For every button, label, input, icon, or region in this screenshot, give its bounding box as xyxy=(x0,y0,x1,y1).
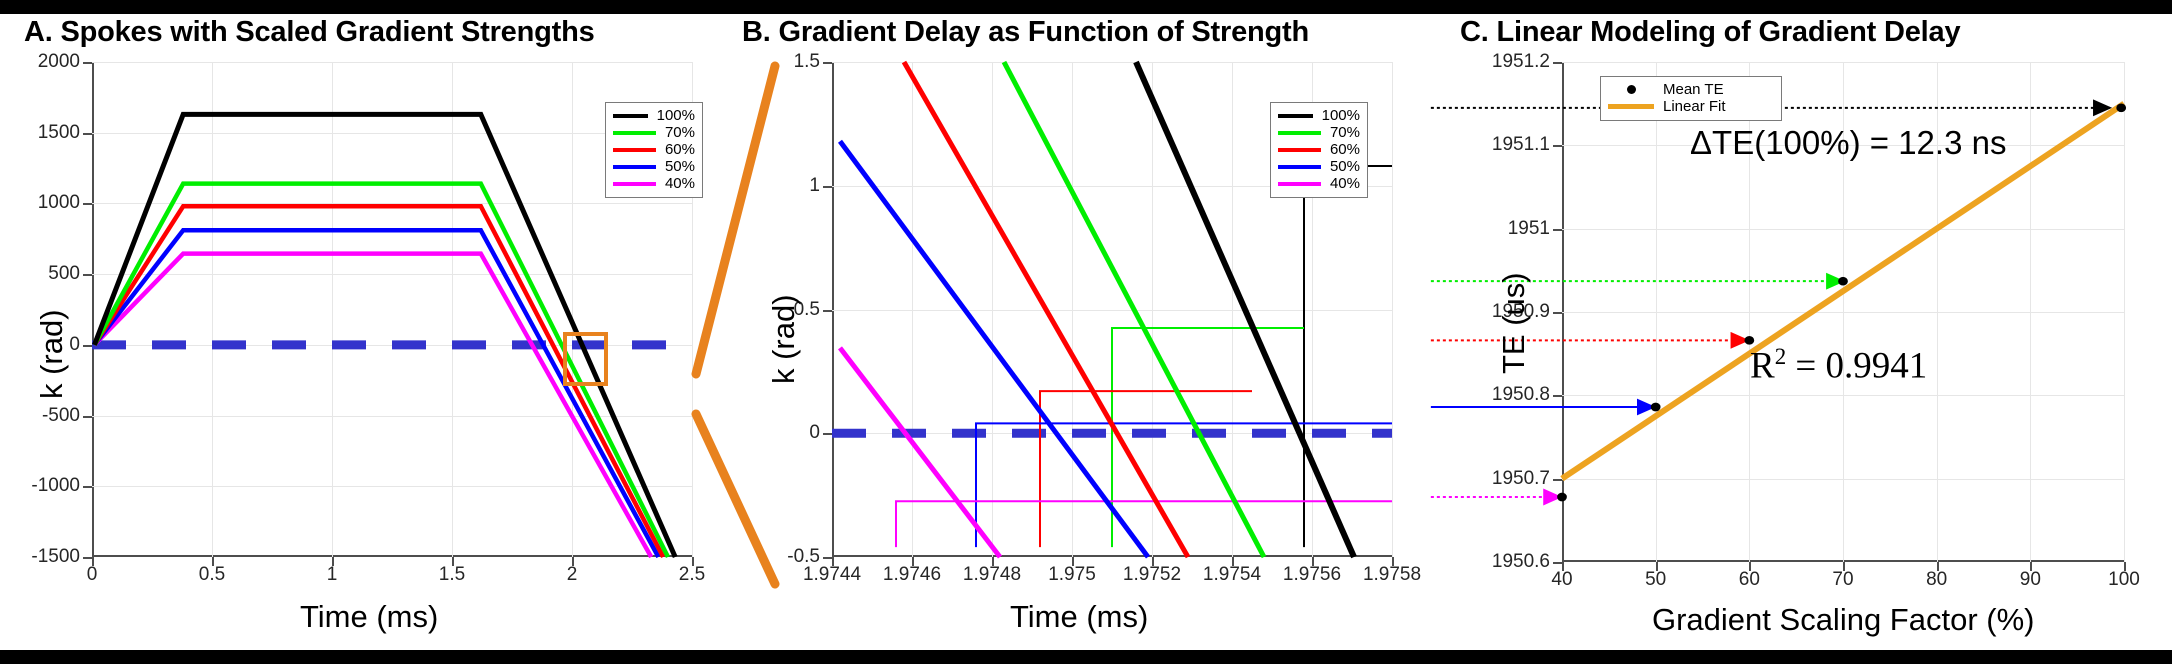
y-tick xyxy=(83,133,92,135)
y-tick xyxy=(83,557,92,559)
curve-70 xyxy=(1004,62,1264,557)
legend-label-50: 50% xyxy=(1330,159,1360,174)
x-tick-label: 1.9756 xyxy=(1283,564,1341,586)
legend-item-40: 40% xyxy=(1278,175,1360,192)
x-tick-label: 1.9744 xyxy=(803,564,861,586)
legend-swatch-linear-fit xyxy=(1608,104,1654,109)
panel-a-y-axis-title: k (rad) xyxy=(34,309,70,399)
y-tick xyxy=(823,310,832,312)
legend-marker-dot-icon xyxy=(1608,85,1654,94)
step-connector-100 xyxy=(1304,166,1392,547)
legend-swatch-100 xyxy=(1278,114,1313,118)
panel-c: C. Linear Modeling of Gradient Delay 195… xyxy=(1430,14,2172,650)
r-value: = 0.9941 xyxy=(1786,345,1927,386)
legend-swatch-50 xyxy=(1278,165,1321,169)
gridline-v xyxy=(2124,62,2125,562)
y-tick xyxy=(1553,62,1562,64)
legend-item-70: 70% xyxy=(1278,124,1360,141)
x-tick-label: 40 xyxy=(1551,569,1572,591)
y-tick xyxy=(823,557,832,559)
legend-label-100: 100% xyxy=(1322,108,1360,123)
y-tick xyxy=(1553,479,1562,481)
x-tick-label: 70 xyxy=(1832,569,1853,591)
step-connector-40 xyxy=(896,501,1392,547)
y-tick xyxy=(1553,312,1562,314)
x-tick-label: 1.5 xyxy=(439,564,465,586)
panel-a-x-axis-title: Time (ms) xyxy=(300,599,438,635)
x-tick-label: 1.9758 xyxy=(1363,564,1421,586)
annotation-r-squared: R2 = 0.9941 xyxy=(1750,344,1927,387)
legend-item-60: 60% xyxy=(1278,141,1360,158)
y-tick xyxy=(83,62,92,64)
y-tick-label: 0 xyxy=(809,422,820,444)
data-point-40 xyxy=(1557,493,1567,502)
x-tick-label: 100 xyxy=(2108,569,2140,591)
y-tick xyxy=(823,62,832,64)
y-tick xyxy=(1553,229,1562,231)
legend-item-100: 100% xyxy=(1278,107,1360,124)
y-tick-label: 500 xyxy=(48,263,80,285)
x-tick-label: 0 xyxy=(87,564,98,586)
annotation-delta-te: ΔTE(100%) = 12.3 ns xyxy=(1690,124,2006,162)
panel-b: B. Gradient Delay as Function of Strengt… xyxy=(730,14,1430,650)
r-exponent: 2 xyxy=(1775,344,1786,369)
legend-item-50: 50% xyxy=(1278,158,1360,175)
x-tick-label: 0.5 xyxy=(199,564,225,586)
x-tick-label: 50 xyxy=(1645,569,1666,591)
legend-swatch-60 xyxy=(1278,148,1321,152)
y-tick xyxy=(823,186,832,188)
y-tick-label: -1000 xyxy=(31,475,80,497)
y-tick-label: 1951 xyxy=(1508,218,1550,240)
y-tick-label: 1951.1 xyxy=(1492,134,1550,156)
y-tick-label: 1950.7 xyxy=(1492,468,1550,490)
data-point-50 xyxy=(1651,403,1661,412)
y-tick-label: 1950.6 xyxy=(1492,551,1550,573)
panel-b-legend: 100% 70% 60% 50% 40% xyxy=(1270,102,1368,198)
curve-60 xyxy=(904,62,1188,557)
panel-b-y-axis-title: k (rad) xyxy=(766,294,802,384)
figure-canvas: A. Spokes with Scaled Gradient Strengths xyxy=(0,14,2172,650)
y-tick xyxy=(83,203,92,205)
legend-item-mean-te: Mean TE xyxy=(1608,81,1774,98)
curve-50 xyxy=(94,230,658,557)
y-tick-label: 1500 xyxy=(38,122,80,144)
legend-swatch-40 xyxy=(1278,182,1321,186)
panel-c-legend: Mean TE Linear Fit xyxy=(1600,76,1782,121)
panel-c-y-axis-title: TE (us) xyxy=(1496,272,1532,374)
data-point-100 xyxy=(2116,104,2126,113)
x-tick-label: 1.9754 xyxy=(1203,564,1261,586)
y-tick-label: 1951.2 xyxy=(1492,51,1550,73)
x-tick-label: 1.9752 xyxy=(1123,564,1181,586)
panel-b-x-axis-title: Time (ms) xyxy=(1010,599,1148,635)
y-tick-label: -1500 xyxy=(31,546,80,568)
y-tick xyxy=(83,416,92,418)
legend-label-40: 40% xyxy=(1330,176,1360,191)
panel-c-title: C. Linear Modeling of Gradient Delay xyxy=(1430,16,1960,49)
panel-c-x-axis-title: Gradient Scaling Factor (%) xyxy=(1652,602,2034,638)
curve-50 xyxy=(840,141,1148,557)
y-tick xyxy=(1553,562,1562,564)
y-tick-label: 1.5 xyxy=(794,51,820,73)
x-tick-label: 80 xyxy=(1926,569,1947,591)
y-tick xyxy=(83,345,92,347)
y-tick-label: 0 xyxy=(69,334,80,356)
step-connector-50 xyxy=(976,423,1392,547)
panel-b-title: B. Gradient Delay as Function of Strengt… xyxy=(730,16,1309,49)
x-tick-label: 1.9748 xyxy=(963,564,1021,586)
legend-swatch-70 xyxy=(1278,131,1321,135)
gridline-v xyxy=(1392,62,1393,557)
y-tick xyxy=(1553,395,1562,397)
y-tick-label: 2000 xyxy=(38,51,80,73)
x-tick-label: 1.9746 xyxy=(883,564,941,586)
legend-label-linear-fit: Linear Fit xyxy=(1663,99,1726,114)
y-tick-label: -500 xyxy=(42,405,80,427)
legend-label-70: 70% xyxy=(1330,125,1360,140)
y-tick xyxy=(823,433,832,435)
data-point-70 xyxy=(1838,277,1848,286)
x-tick-label: 1.975 xyxy=(1048,564,1096,586)
curve-40 xyxy=(94,254,651,557)
y-tick xyxy=(83,274,92,276)
r-symbol: R xyxy=(1750,345,1775,386)
y-tick-label: 1000 xyxy=(38,192,80,214)
x-tick-label: 1 xyxy=(327,564,338,586)
y-tick xyxy=(1553,145,1562,147)
panel-a-title: A. Spokes with Scaled Gradient Strengths xyxy=(0,16,595,49)
x-tick-label: 90 xyxy=(2020,569,2041,591)
x-tick-label: 2 xyxy=(567,564,578,586)
y-tick-label: 1 xyxy=(809,175,820,197)
y-tick xyxy=(83,486,92,488)
legend-label-60: 60% xyxy=(1330,142,1360,157)
x-tick-label: 60 xyxy=(1739,569,1760,591)
legend-item-linear-fit: Linear Fit xyxy=(1608,98,1774,115)
y-tick-label: 1950.8 xyxy=(1492,384,1550,406)
legend-label-mean-te: Mean TE xyxy=(1663,82,1724,97)
